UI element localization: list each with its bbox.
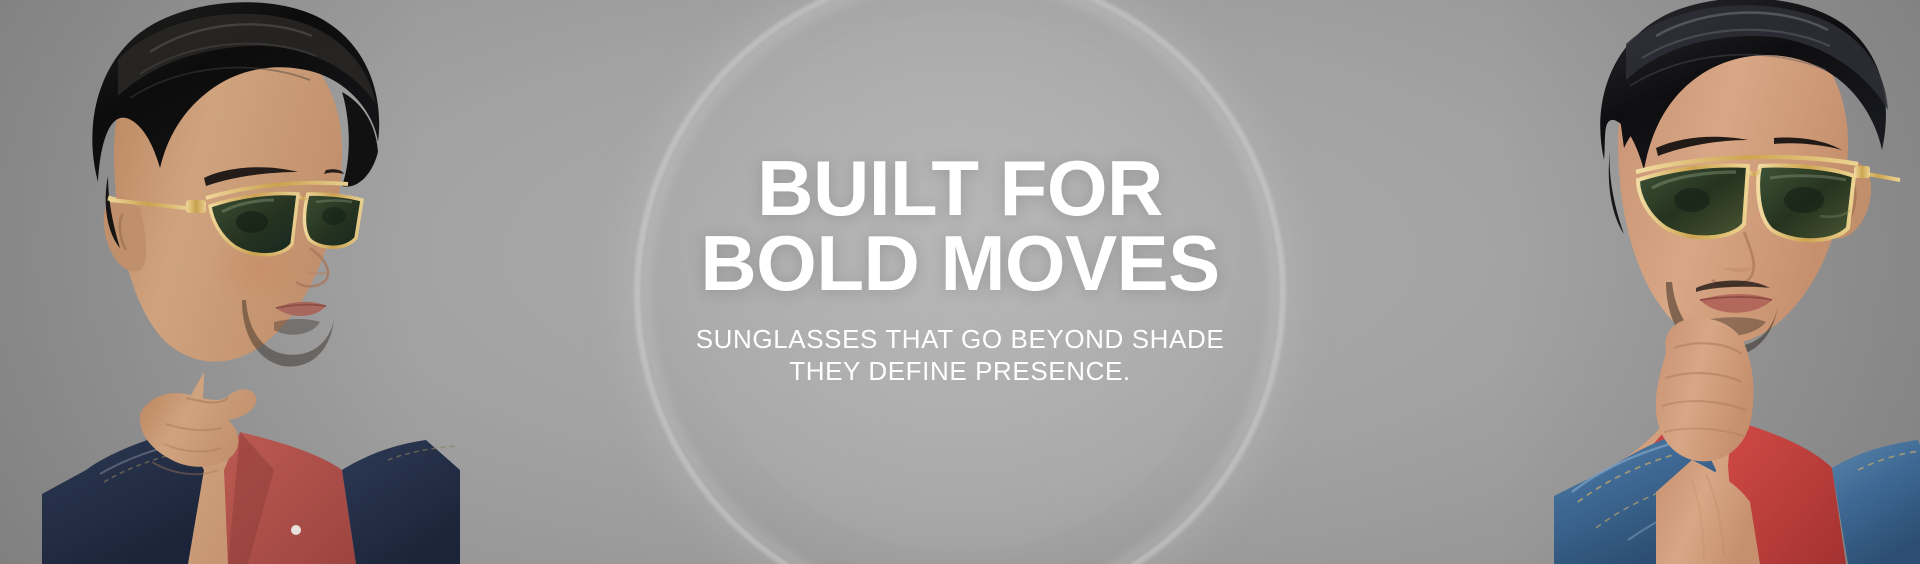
model-photo-right (1460, 0, 1920, 564)
model-photo-left (0, 0, 460, 564)
promo-banner: BUILT FOR BOLD MOVES SUNGLASSES THAT GO … (0, 0, 1920, 564)
